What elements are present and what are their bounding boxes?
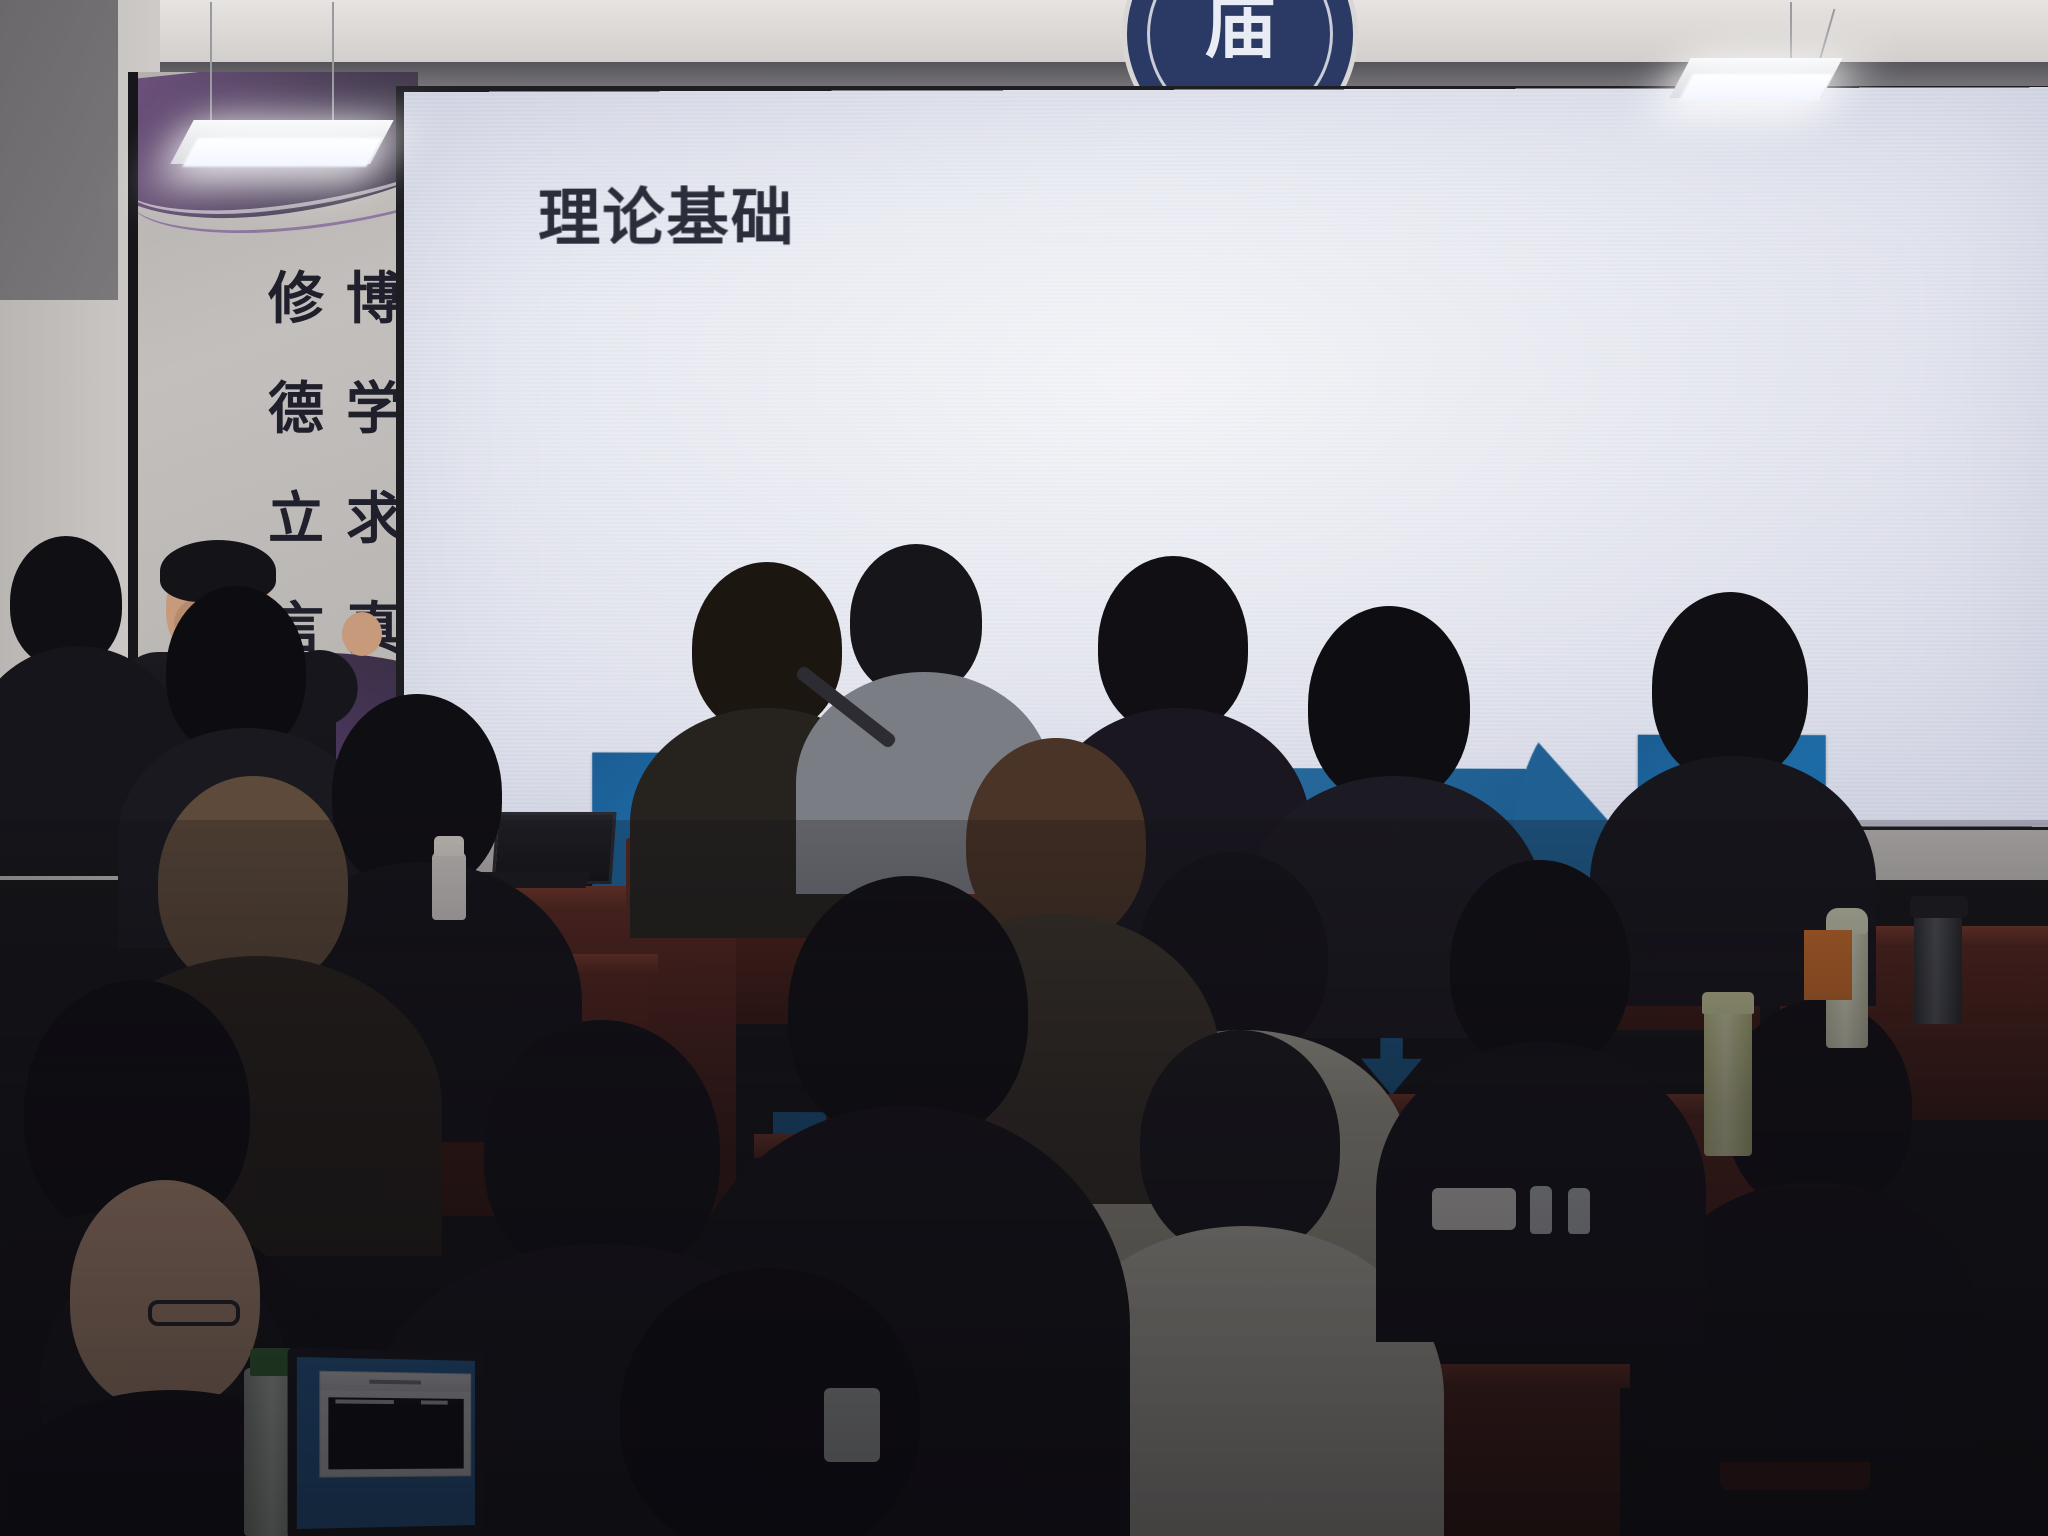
person-head xyxy=(484,1020,720,1282)
person-head xyxy=(1140,1030,1340,1256)
browser-window xyxy=(319,1371,471,1477)
person-head xyxy=(70,1180,260,1410)
lecture-hall-photo: 庙 ACCOUNTING SCHOOL OF 博 学 求 真 修 德 立 言 理… xyxy=(0,0,2048,1536)
audience-member xyxy=(1388,860,1688,1300)
thermos-green xyxy=(1704,1006,1752,1156)
person-head xyxy=(1450,860,1630,1072)
bottle-cap xyxy=(434,836,464,856)
calligraphy-column-right: 博 学 求 真 xyxy=(346,272,402,658)
calligraphy-char: 博 xyxy=(346,272,402,328)
light-glow xyxy=(1679,74,1833,100)
presenter-hand xyxy=(342,612,382,656)
thermos-cap xyxy=(1910,896,1968,918)
water-cup xyxy=(824,1388,880,1462)
left-wall-shadow xyxy=(0,0,118,300)
light-wire xyxy=(332,2,334,122)
calligraphy-char: 求 xyxy=(346,492,402,548)
calligraphy-char: 德 xyxy=(268,382,324,438)
light-wire xyxy=(210,2,212,122)
thermos-black xyxy=(1914,912,1962,1024)
orange-folder xyxy=(1804,930,1852,1000)
student-laptop[interactable] xyxy=(288,1348,484,1536)
toolbar-line xyxy=(370,1379,421,1384)
calligraphy-char: 学 xyxy=(346,382,402,438)
small-bottle xyxy=(1568,1188,1590,1234)
light-glow xyxy=(182,138,381,167)
emblem-glyph: 庙 xyxy=(1127,0,1353,72)
tissue-pack xyxy=(1432,1188,1516,1230)
person-head xyxy=(1308,606,1470,804)
laptop-screen xyxy=(297,1357,475,1529)
eyeglasses-icon xyxy=(148,1300,240,1326)
water-bottle xyxy=(432,852,466,920)
pendant-light-right xyxy=(1680,58,1832,98)
small-bottle xyxy=(1530,1186,1552,1234)
calligraphy-char: 立 xyxy=(268,492,324,548)
audience-member xyxy=(560,1268,980,1536)
pendant-light-left xyxy=(182,120,382,164)
calligraphy-char: 修 xyxy=(268,272,324,328)
content-line xyxy=(421,1400,448,1404)
person-head xyxy=(1652,592,1808,782)
person-head xyxy=(788,876,1028,1144)
thermos-cap xyxy=(1702,992,1754,1014)
browser-content xyxy=(328,1397,463,1470)
content-line xyxy=(336,1399,394,1404)
light-wire xyxy=(1790,2,1792,60)
